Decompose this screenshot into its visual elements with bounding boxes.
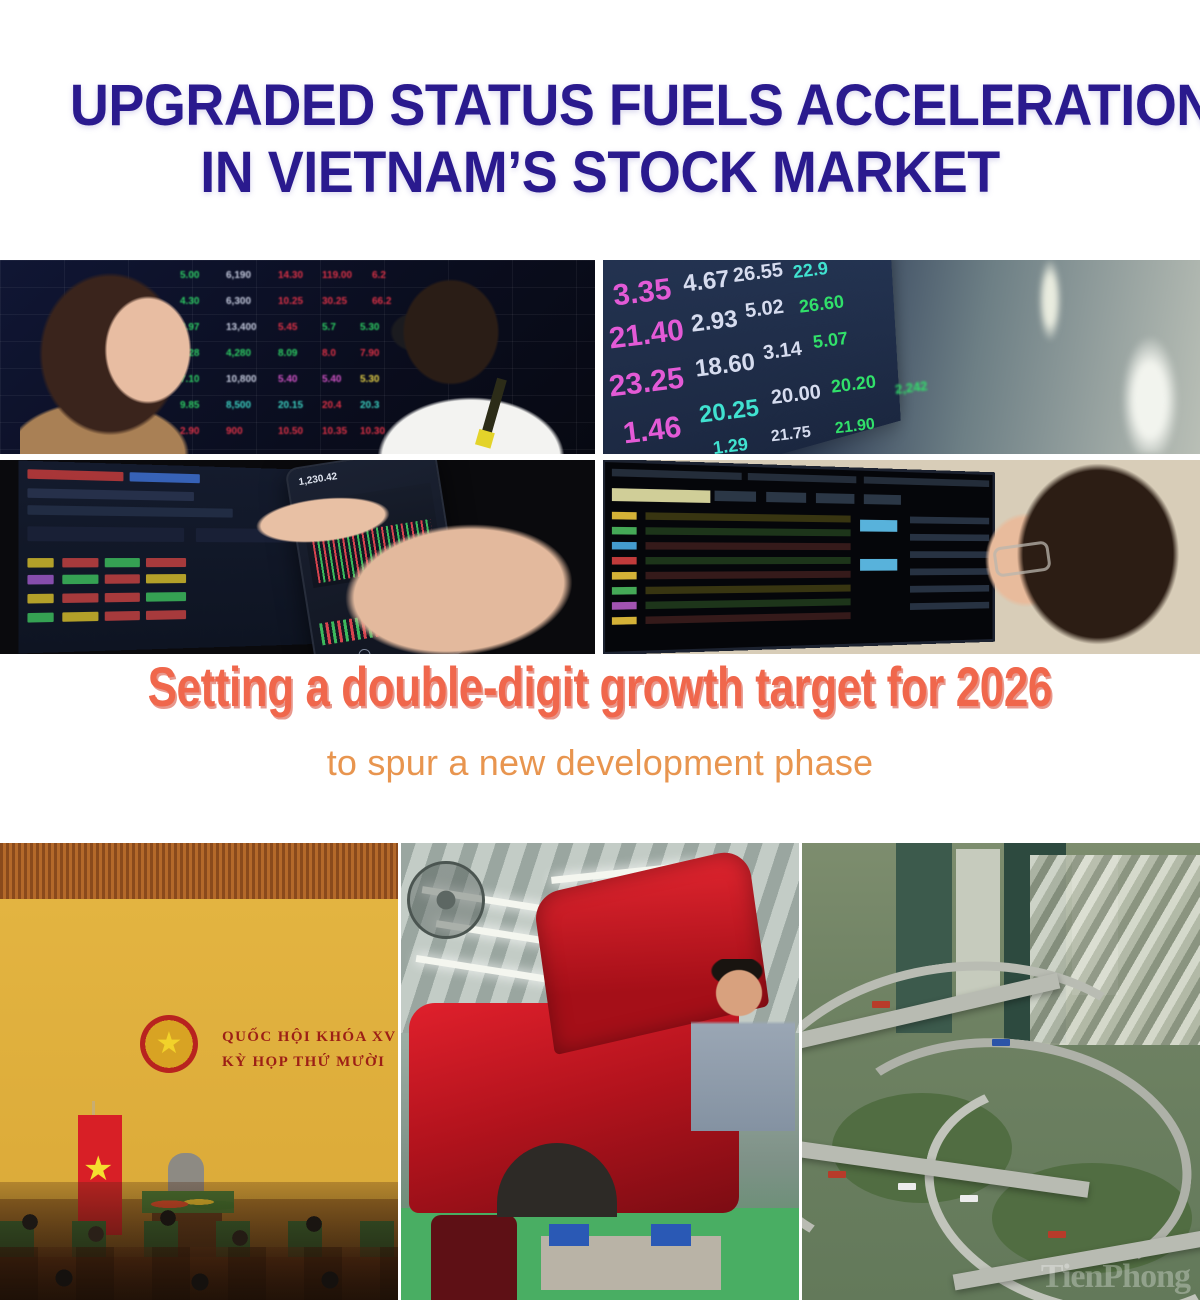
photo-grid-top: 5.00 6,190 14.30 119.00 6.2 4.30 6,300 1… xyxy=(0,260,1200,654)
subtitle-secondary: to spur a new development phase xyxy=(0,742,1200,784)
subtitle-block: Setting a double-digit growth target for… xyxy=(0,662,1200,784)
photo-national-assembly-session: QUỐC HỘI KHÓA XV KỲ HỌP THỨ MƯỜI xyxy=(0,843,398,1300)
infographic-page: UPGRADED STATUS FUELS ACCELERATION IN VI… xyxy=(0,0,1200,1300)
widescreen-monitor xyxy=(603,460,995,654)
assembly-banner-line-1: QUỐC HỘI KHÓA XV xyxy=(222,1025,397,1050)
trader-scene-backdrop xyxy=(603,460,1200,654)
page-title: UPGRADED STATUS FUELS ACCELERATION IN VI… xyxy=(0,0,1200,207)
photo-trader-at-monitor xyxy=(603,460,1200,654)
photo-car-assembly-line xyxy=(401,843,799,1300)
national-emblem-icon xyxy=(140,1015,198,1073)
headline-line-1: UPGRADED STATUS FUELS ACCELERATION xyxy=(70,72,1130,139)
photo-highway-interchange-aerial: TienPhong xyxy=(802,843,1200,1300)
factory-backdrop xyxy=(401,843,799,1300)
door-opening xyxy=(431,1215,517,1300)
delegates-crowd xyxy=(0,1182,398,1300)
angled-board-backdrop: 3.35 4.67 26.55 22.9 21.40 2.93 5.02 26.… xyxy=(603,260,1200,454)
photo-mobile-trading-app: 1,230.42 xyxy=(0,460,595,654)
factory-worker xyxy=(691,959,795,1131)
assembly-banner: QUỐC HỘI KHÓA XV KỲ HỌP THỨ MƯỜI xyxy=(222,1025,397,1075)
investor-man xyxy=(331,260,591,454)
subtitle-main: Setting a double-digit growth target for… xyxy=(148,659,1052,715)
investor-woman xyxy=(20,262,270,454)
ceiling-slats xyxy=(0,843,398,899)
phone-scene-backdrop: 1,230.42 xyxy=(0,460,595,654)
photo-angled-ticker-board: 3.35 4.67 26.55 22.9 21.40 2.93 5.02 26.… xyxy=(603,260,1200,454)
headline-line-2: IN VIETNAM’S STOCK MARKET xyxy=(70,139,1130,206)
assembly-banner-line-2: KỲ HỌP THỨ MƯỜI xyxy=(222,1050,397,1075)
watermark: TienPhong xyxy=(1041,1258,1190,1296)
industrial-fan-icon xyxy=(407,861,485,939)
photo-investors-at-stock-board: 5.00 6,190 14.30 119.00 6.2 4.30 6,300 1… xyxy=(0,260,595,454)
hand-pointing xyxy=(246,460,595,654)
ceiling-lights-blur xyxy=(900,260,1200,454)
stock-board-backdrop: 5.00 6,190 14.30 119.00 6.2 4.30 6,300 1… xyxy=(0,260,595,454)
photo-grid-bottom: QUỐC HỘI KHÓA XV KỲ HỌP THỨ MƯỜI xyxy=(0,843,1200,1300)
interchange-backdrop: TienPhong xyxy=(802,843,1200,1300)
assembly-jig xyxy=(541,1236,721,1290)
assembly-hall-backdrop: QUỐC HỘI KHÓA XV KỲ HỌP THỨ MƯỜI xyxy=(0,843,398,1300)
